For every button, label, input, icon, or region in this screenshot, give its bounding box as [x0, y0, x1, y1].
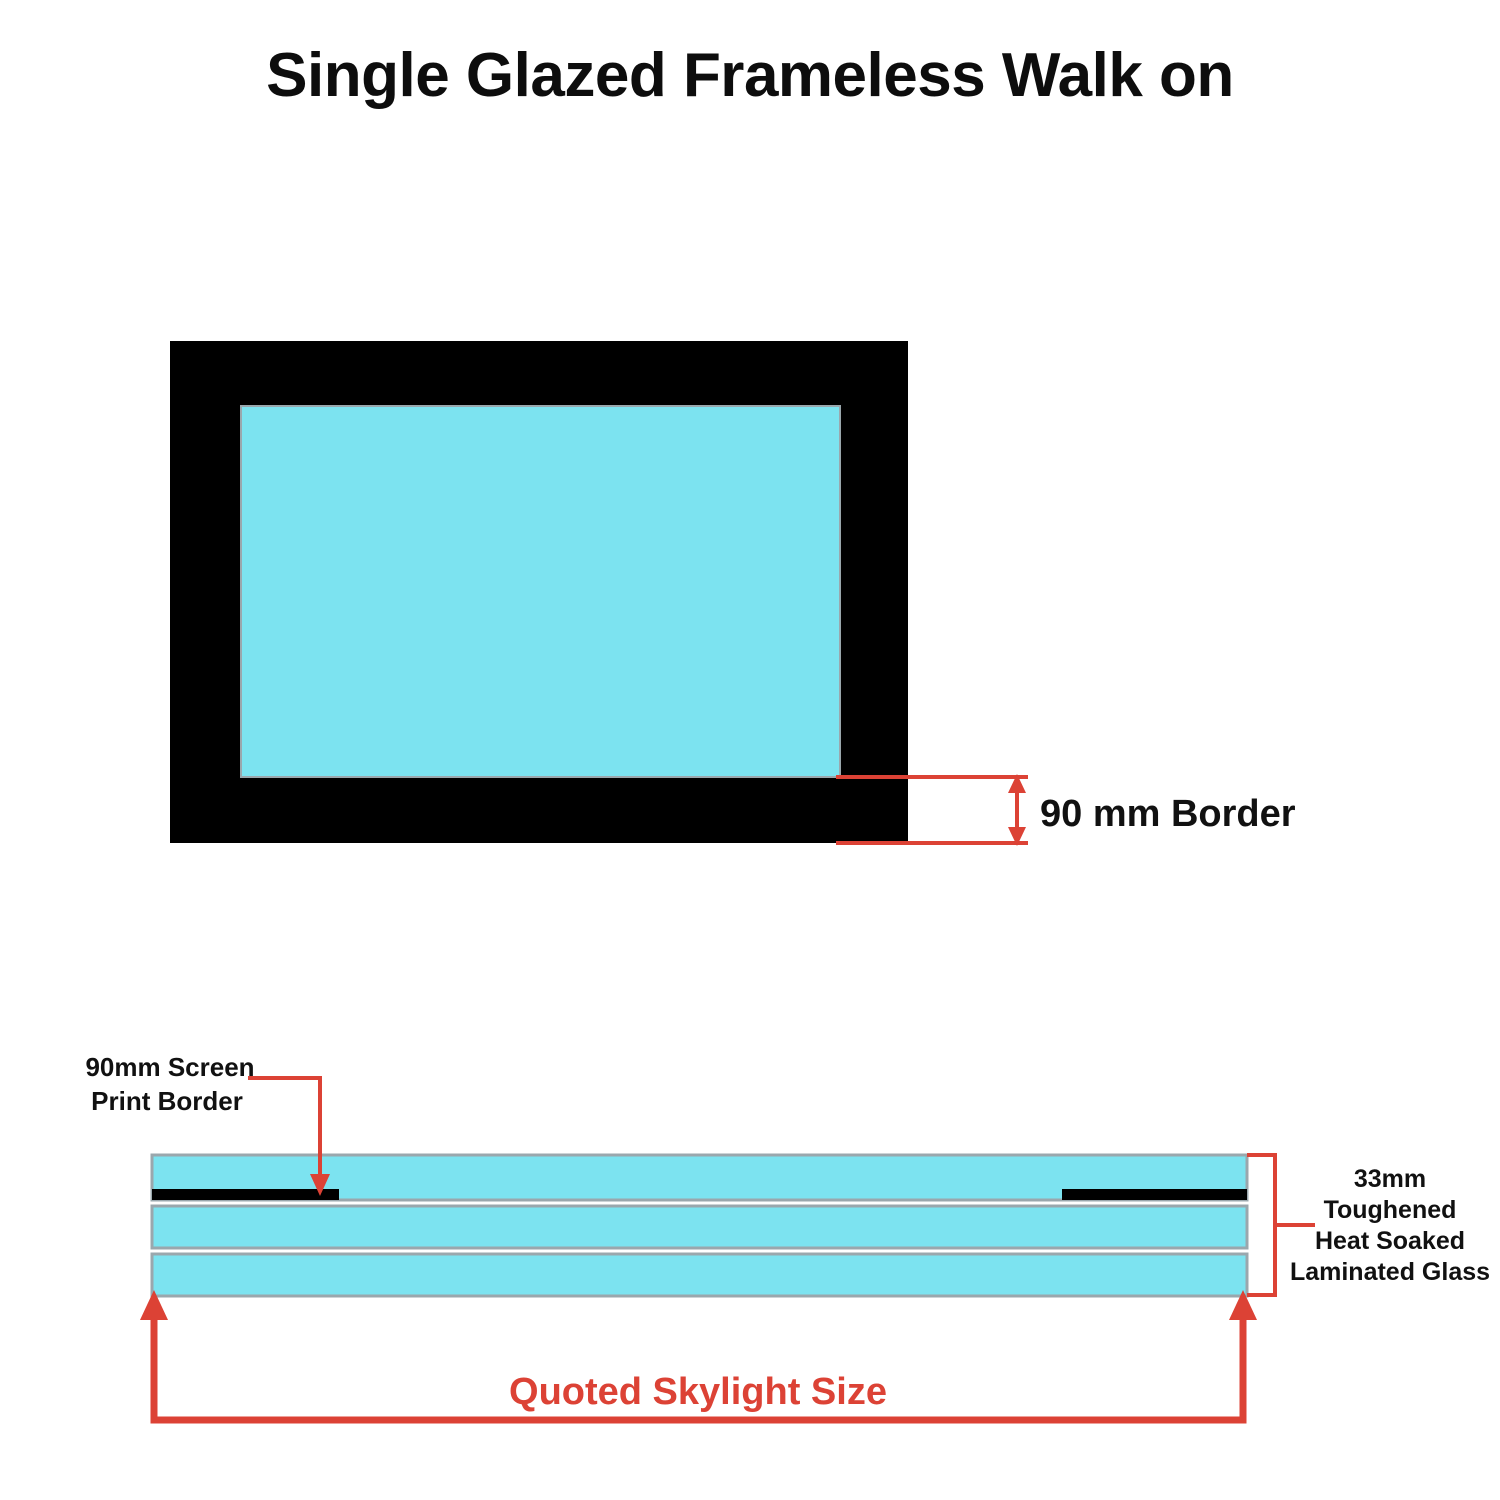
quoted-size-label: Quoted Skylight Size [509, 1371, 887, 1413]
plan-glass-panel [241, 406, 840, 777]
glass-spec-line1: 33mm [1354, 1165, 1426, 1193]
glass-spec-line2: Toughened [1324, 1196, 1457, 1224]
skylight-specification-diagram: Single Glazed Frameless Walk on 90 mm Bo… [0, 0, 1500, 1500]
glass-spec-line3: Heat Soaked [1315, 1227, 1465, 1255]
screen-print-callout-line2: Print Border [91, 1086, 243, 1116]
border-dimension-label: 90 mm Border [1040, 793, 1296, 835]
page-title: Single Glazed Frameless Walk on [266, 41, 1234, 110]
screen-print-band-left [152, 1189, 339, 1200]
glass-layer-middle [152, 1206, 1247, 1248]
screen-print-callout-line1: 90mm Screen [85, 1052, 254, 1082]
screen-print-band-right [1062, 1189, 1247, 1200]
glass-layer-bottom [152, 1254, 1247, 1296]
glass-spec-line4: Laminated Glass [1290, 1258, 1490, 1286]
